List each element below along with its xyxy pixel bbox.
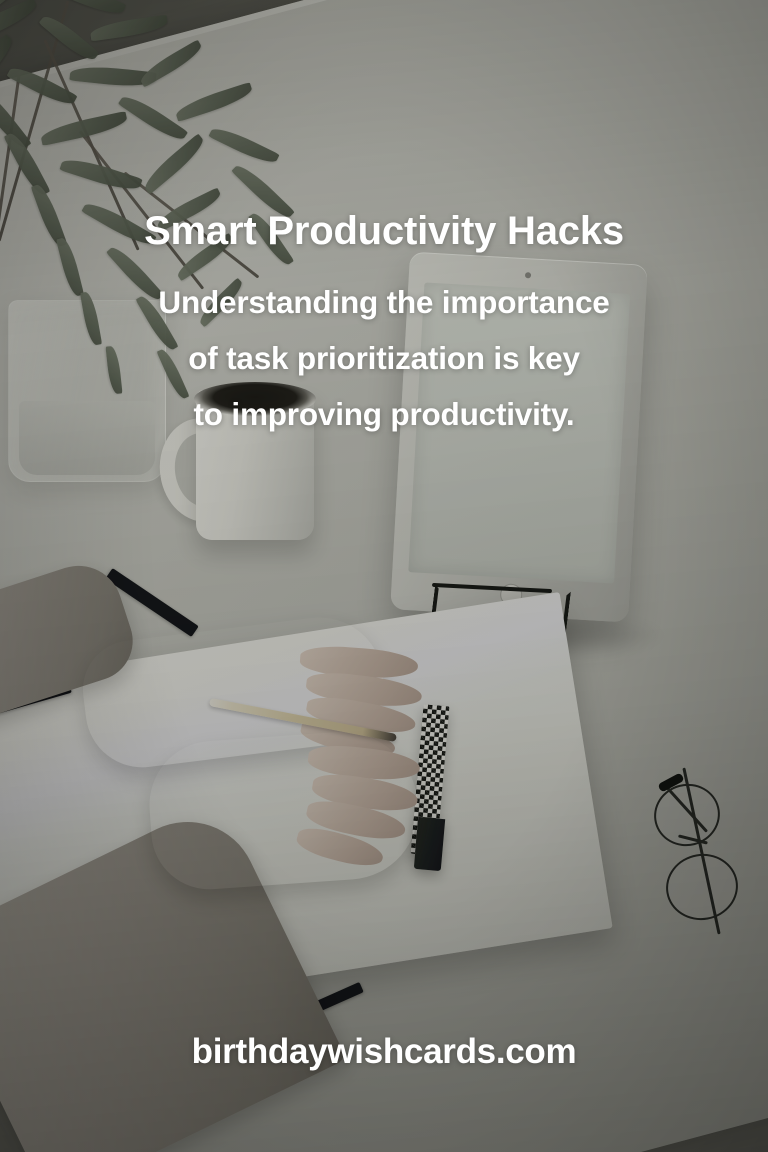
text-overlay: Smart Productivity Hacks Understanding t… [0,0,768,1152]
subtitle: Understanding the importance of task pri… [64,274,704,442]
subtitle-line-3: to improving productivity. [64,386,704,442]
page-title: Smart Productivity Hacks [0,208,768,254]
site-url[interactable]: birthdaywishcards.com [0,1032,768,1072]
social-card: Smart Productivity Hacks Understanding t… [0,0,768,1152]
subtitle-line-2: of task prioritization is key [64,330,704,386]
subtitle-line-1: Understanding the importance [64,274,704,330]
